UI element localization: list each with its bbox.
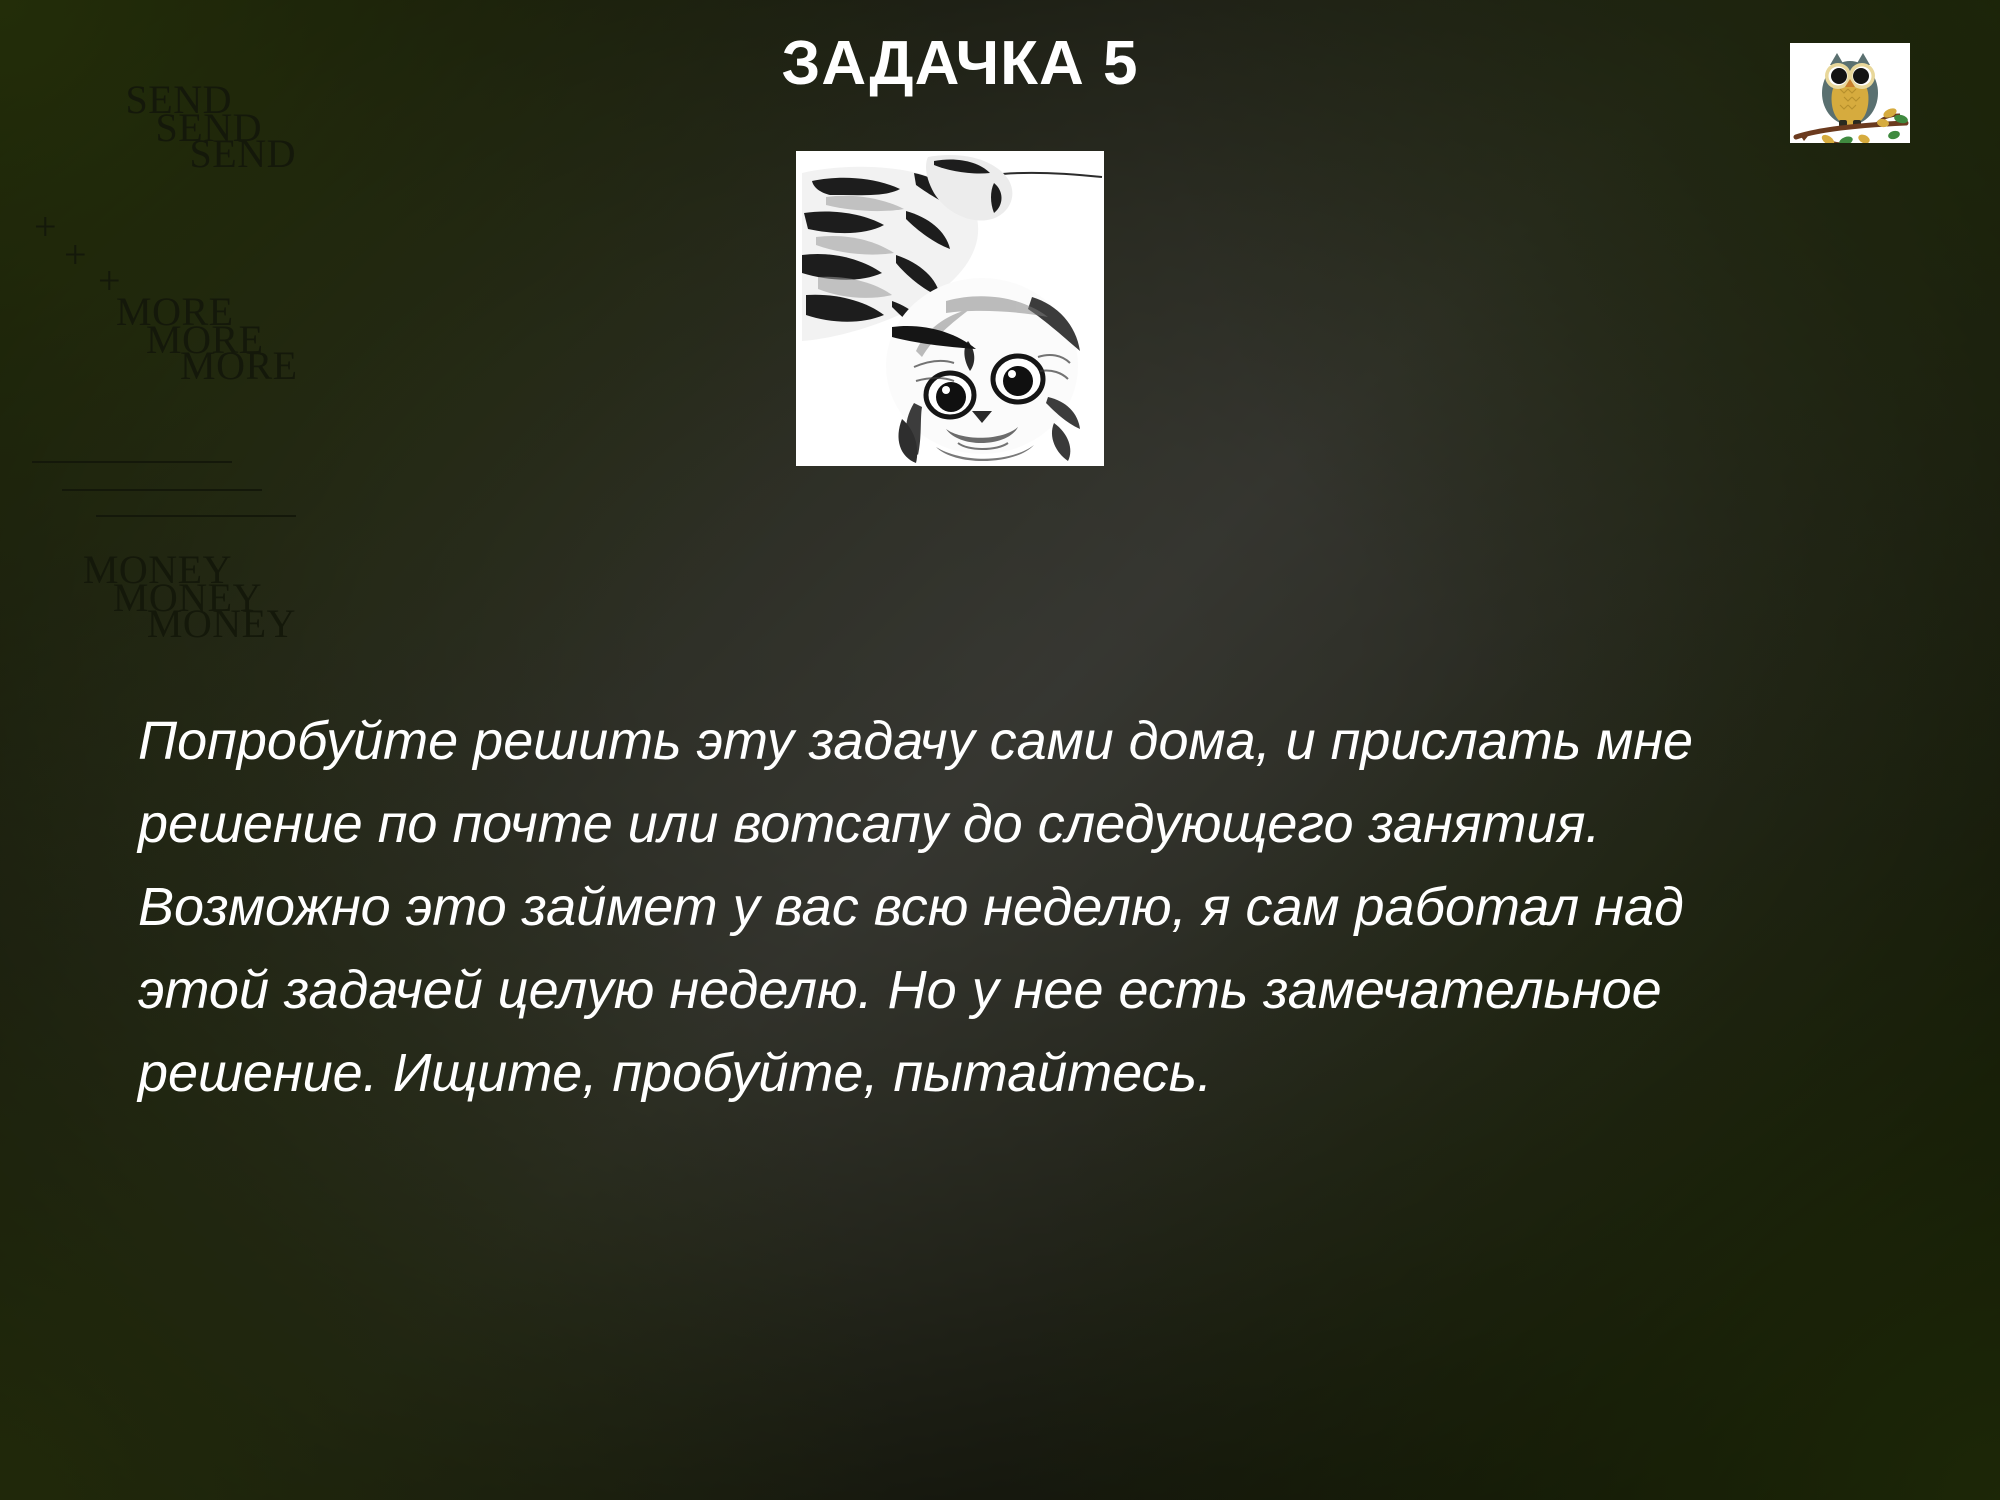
slide-canvas: SEND + MORE MONEY SEND + MORE MONEY SEND… bbox=[0, 0, 2000, 1500]
body-line-2: решение по почте или вотсапу до следующе… bbox=[138, 783, 1880, 866]
owl-illustration bbox=[1790, 43, 1910, 143]
body-line-5: решение. Ищите, пробуйте, пытайтесь. bbox=[138, 1032, 1880, 1115]
cryptarithm-addend1: SEND bbox=[96, 133, 296, 175]
cat-illustration bbox=[796, 151, 1104, 466]
cryptarithm-copy-3: SEND + MORE MONEY bbox=[96, 48, 296, 730]
body-paragraph: Попробуйте решить эту задачу сами дома, … bbox=[138, 700, 1880, 1115]
cryptarithm-operator: + bbox=[64, 234, 87, 276]
cat-image bbox=[796, 151, 1104, 466]
cryptarithm-rule bbox=[96, 515, 296, 517]
cryptarithm-addend2-row: + MORE bbox=[96, 260, 296, 430]
body-line-4: этой задачей целую неделю. Но у нее есть… bbox=[138, 949, 1880, 1032]
cryptarithm-addend2: MORE bbox=[180, 343, 298, 388]
owl-image bbox=[1790, 43, 1910, 143]
body-line-3: Возможно это займет у вас всю неделю, я … bbox=[138, 866, 1880, 949]
cryptarithm-sum: MONEY bbox=[96, 603, 296, 645]
slide-title: ЗАДАЧКА 5 bbox=[240, 28, 1680, 99]
body-line-1: Попробуйте решить эту задачу сами дома, … bbox=[138, 700, 1880, 783]
cryptarithm-operator: + bbox=[34, 206, 57, 248]
cryptarithm-operator: + bbox=[98, 260, 121, 302]
